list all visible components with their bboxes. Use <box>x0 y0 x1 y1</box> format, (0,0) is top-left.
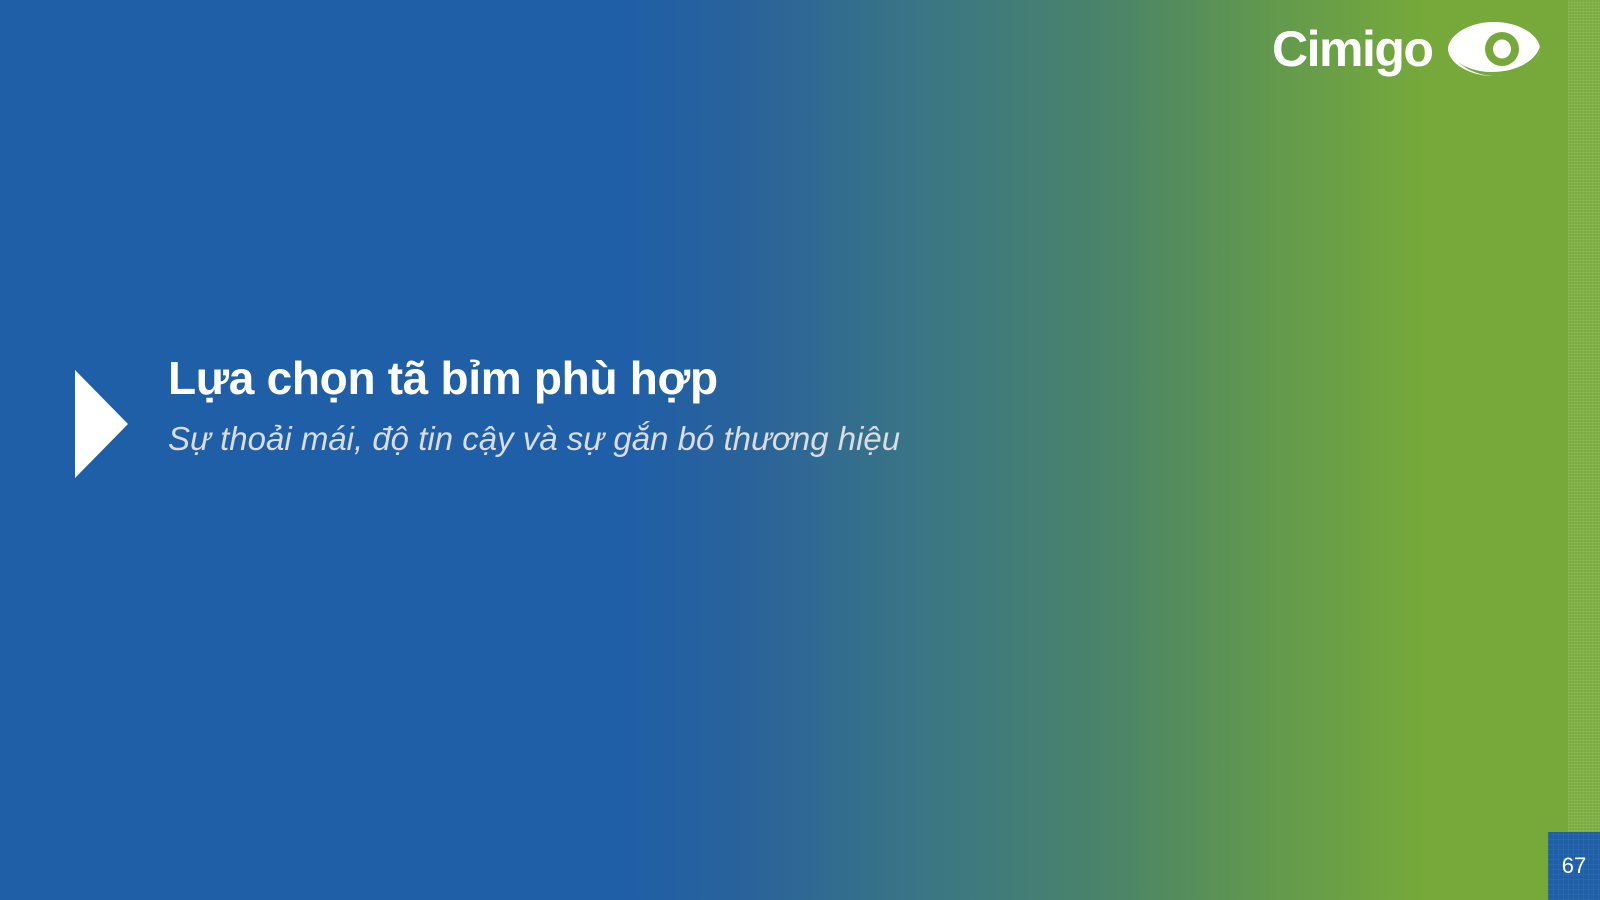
page-title: Lựa chọn tã bỉm phù hợp <box>168 352 1375 405</box>
page-subtitle: Sự thoải mái, độ tin cậy và sự gắn bó th… <box>168 419 1375 459</box>
right-edge-strip <box>1568 0 1600 900</box>
cimigo-logo: Cimigo <box>1272 18 1542 80</box>
slide-text-block: Lựa chọn tã bỉm phù hợp Sự thoải mái, độ… <box>168 352 1375 458</box>
eye-icon <box>1446 20 1542 78</box>
slide-content: Lựa chọn tã bỉm phù hợp Sự thoải mái, độ… <box>75 352 1375 478</box>
page-number-value: 67 <box>1562 855 1586 877</box>
slide-canvas: Cimigo Lựa chọn tã bỉm phù hợp Sự thoải … <box>0 0 1600 900</box>
right-triangle-icon <box>75 370 130 478</box>
page-number-badge: 67 <box>1548 832 1600 900</box>
cimigo-wordmark: Cimigo <box>1272 24 1432 74</box>
